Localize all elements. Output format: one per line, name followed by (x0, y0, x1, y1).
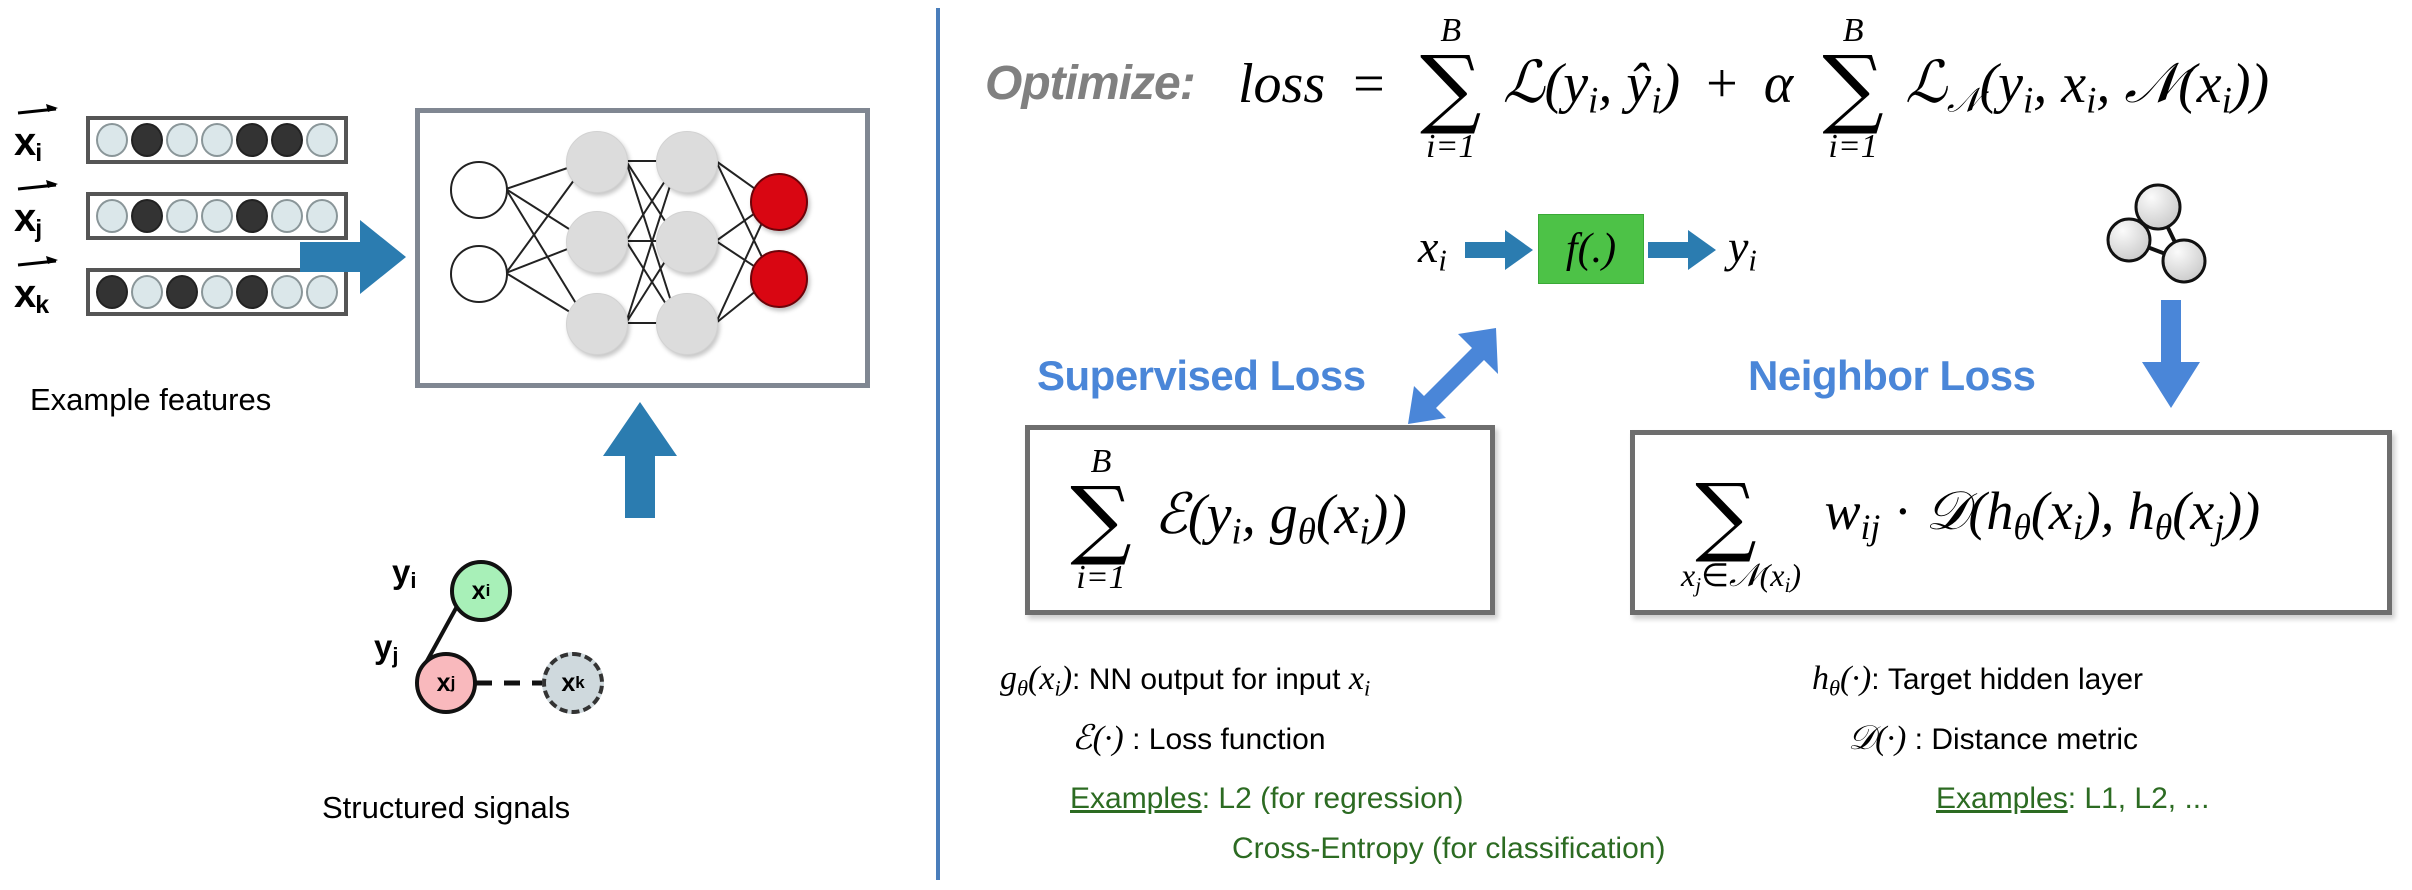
feature-cell (166, 123, 198, 157)
feature-cell (131, 275, 163, 309)
sup-examples-text-1: : L2 (for regression) (1202, 782, 1464, 815)
nb-legend-dot-2: (·) (1875, 720, 1906, 757)
sup-sum: B ∑ i=1 (1062, 483, 1140, 557)
nb-sum-lower: xj∈𝒩(xi) (1681, 556, 1771, 598)
eq-sum-1: B ∑ i=1 (1413, 52, 1489, 126)
vector-base-2: x (14, 272, 35, 316)
feature-cell (131, 123, 163, 157)
yi-base: y (392, 553, 410, 590)
eq-cal-L: ℒ (1503, 48, 1545, 116)
structured-signals-caption: Structured signals (322, 790, 570, 826)
nn-output-node (750, 250, 808, 308)
feature-vector-label-0: xi (14, 120, 41, 168)
eq-sum-2-upper: B (1815, 12, 1891, 50)
nb-legend-sym-1: hθ(·) (1812, 660, 1871, 697)
flow-x-sub: i (1438, 244, 1446, 278)
sigma-glyph: ∑ (1815, 52, 1891, 126)
function-box-label: f(.) (1566, 225, 1616, 273)
flow-x: x (1418, 221, 1438, 272)
sup-legend-sym-1: gθ(xi) (1000, 660, 1072, 697)
sup-legend-sep-2: : (1124, 723, 1149, 756)
eq-sum-2-lower: i=1 (1815, 128, 1891, 166)
example-features-caption: Example features (30, 382, 271, 418)
flow-output-label: yi (1728, 220, 1757, 279)
neighbor-loss-heading: Neighbor Loss (1748, 352, 2036, 400)
vector-overarrow-icon (16, 178, 60, 194)
flow-y: y (1728, 221, 1748, 272)
nb-legend-text-1: Target hidden layer (1888, 663, 2143, 696)
main-equation: loss = B ∑ i=1 ℒ(yi, ŷi) + α B ∑ i=1 ℒ𝒩(… (1238, 48, 2269, 126)
feature-cell (236, 123, 268, 157)
vector-sub-1: j (35, 215, 41, 243)
feature-cell (236, 275, 268, 309)
graph-node-xj: xj (415, 652, 477, 714)
nb-examples-label: Examples (1936, 782, 2068, 815)
supervised-legend-line-1: gθ(xi): NN output for input xi (1000, 660, 1370, 701)
neural-network-box (415, 108, 870, 388)
vector-base-1: x (14, 196, 35, 240)
vector-sub-0: i (35, 139, 41, 167)
nn-hidden-node (566, 131, 628, 193)
arrow-fn-to-output-icon (1648, 228, 1718, 272)
graph-node-xk: xk (542, 652, 604, 714)
eq-body-2: (yi, xi, 𝒩(xi)) (1979, 53, 2269, 115)
nn-hidden-node (656, 131, 718, 193)
feature-cell (96, 275, 128, 309)
eq-loss: loss (1238, 53, 1325, 115)
feature-cell (271, 275, 303, 309)
nn-hidden-node (656, 211, 718, 273)
feature-vector-label-2: xk (14, 272, 48, 320)
arrow-to-neighbor-loss-icon (2140, 300, 2202, 410)
graph-node-xi: xi (450, 560, 512, 622)
feature-vector-box-0 (86, 116, 348, 164)
sup-sum-lower: i=1 (1062, 559, 1140, 597)
neighbor-loss-formula-box: ∑ xj∈𝒩(xi) wij · 𝒟(hθ(xi), hθ(xj)) (1630, 430, 2392, 615)
sup-cal-E: ℰ (1154, 482, 1188, 547)
feature-cell (166, 275, 198, 309)
supervised-legend-line-2: ℰ(·) : Loss function (1072, 718, 1326, 758)
feature-cell (306, 123, 338, 157)
flow-input-label: xi (1418, 220, 1447, 279)
neighbor-examples-line-1: Examples: L1, L2, ... (1936, 782, 2209, 816)
neighbor-legend-line-2: 𝒟(·) : Distance metric (1848, 718, 2138, 758)
sup-body: (yi, gθ(xi)) (1188, 484, 1407, 546)
eq-body-1: (yi, ŷi) (1545, 53, 1681, 115)
nb-legend-text-2: Distance metric (1931, 723, 2138, 756)
graph-node-xk-label: x (561, 669, 575, 698)
yj-base: y (374, 628, 392, 665)
nn-output-node (750, 173, 808, 231)
arrow-features-to-network-icon (300, 212, 410, 302)
nn-hidden-node (566, 293, 628, 355)
feature-cell (271, 123, 303, 157)
sup-examples-label: Examples (1070, 782, 1202, 815)
graph-node-xj-sub: j (451, 673, 456, 693)
sup-sum-upper: B (1062, 443, 1140, 481)
arrow-to-supervised-loss-icon (1400, 320, 1510, 430)
sigma-glyph: ∑ (1681, 480, 1771, 554)
optimize-label: Optimize: (985, 56, 1195, 111)
yi-sub: i (410, 568, 416, 593)
neighbor-legend-line-1: hθ(·): Target hidden layer (1812, 660, 2143, 701)
feature-cell (131, 199, 163, 233)
eq-plus: + (1706, 53, 1738, 115)
feature-cell (201, 275, 233, 309)
eq-alpha: α (1764, 53, 1793, 115)
nn-hidden-node (656, 293, 718, 355)
feature-cell (166, 199, 198, 233)
sup-legend-text-1: NN output for input (1089, 663, 1349, 696)
eq-cal-N-sub: 𝒩 (1947, 81, 1980, 121)
vector-overarrow-icon (16, 254, 60, 270)
vector-overarrow-icon (16, 102, 60, 118)
nb-sum: ∑ xj∈𝒩(xi) (1681, 480, 1771, 554)
graph-node-xk-sub: k (575, 673, 584, 693)
sup-legend-tail-1: xi (1349, 660, 1370, 697)
function-box: f(.) (1538, 214, 1644, 284)
neighborhood-graph-icon (2100, 175, 2250, 290)
supervised-loss-formula-box: B ∑ i=1 ℰ(yi, gθ(xi)) (1025, 425, 1495, 615)
panel-divider (936, 8, 940, 880)
eq-sum-1-upper: B (1413, 12, 1489, 50)
sigma-glyph: ∑ (1062, 483, 1140, 557)
eq-equals: = (1353, 53, 1385, 115)
arrow-input-to-fn-icon (1465, 228, 1535, 272)
sup-legend-sym-2: ℰ (1072, 718, 1093, 758)
feature-cell (201, 199, 233, 233)
graph-label-yi: yi (392, 553, 416, 594)
vector-sub-2: k (35, 291, 48, 319)
feature-cell (201, 123, 233, 157)
eq-cal-L2: ℒ (1905, 48, 1947, 116)
feature-cell (96, 199, 128, 233)
feature-cell (271, 199, 303, 233)
nb-legend-sep-1: : (1871, 663, 1888, 696)
feature-cell (96, 123, 128, 157)
nn-hidden-node (566, 211, 628, 273)
feature-vector-label-1: xj (14, 196, 41, 244)
nb-body: wij · 𝒟(hθ(xi), hθ(xj)) (1825, 481, 2261, 541)
nn-input-node (450, 161, 508, 219)
supervised-examples-line-1: Examples: L2 (for regression) (1070, 782, 1464, 816)
nb-legend-sep-2: : (1906, 723, 1931, 756)
yj-sub: j (392, 643, 398, 668)
nb-examples-text-1: : L1, L2, ... (2068, 782, 2210, 815)
supervised-formula: B ∑ i=1 ℰ(yi, gθ(xi)) (1062, 482, 1407, 557)
vector-base-0: x (14, 120, 35, 164)
flow-y-sub: i (1748, 244, 1756, 278)
supervised-examples-line-2: Cross-Entropy (for classification) (1232, 832, 1665, 866)
sup-legend-sep-1: : (1072, 663, 1089, 696)
sigma-glyph: ∑ (1413, 52, 1489, 126)
supervised-loss-heading: Supervised Loss (1037, 352, 1366, 400)
sup-legend-text-2: Loss function (1149, 723, 1326, 756)
graph-node-xi-sub: i (486, 581, 491, 601)
neighbor-formula: ∑ xj∈𝒩(xi) wij · 𝒟(hθ(xi), hθ(xj)) (1681, 479, 2260, 554)
graph-label-yj: yj (374, 628, 398, 669)
arrow-signals-to-network-icon (595, 400, 685, 518)
feature-cell (236, 199, 268, 233)
nn-input-node (450, 245, 508, 303)
eq-sum-1-lower: i=1 (1413, 128, 1489, 166)
graph-node-xi-label: x (472, 577, 486, 606)
graph-node-xj-label: x (437, 669, 451, 698)
nb-legend-sym-2: 𝒟 (1848, 718, 1875, 758)
sup-legend-dot-2: (·) (1093, 720, 1124, 757)
eq-sum-2: B ∑ i=1 (1815, 52, 1891, 126)
